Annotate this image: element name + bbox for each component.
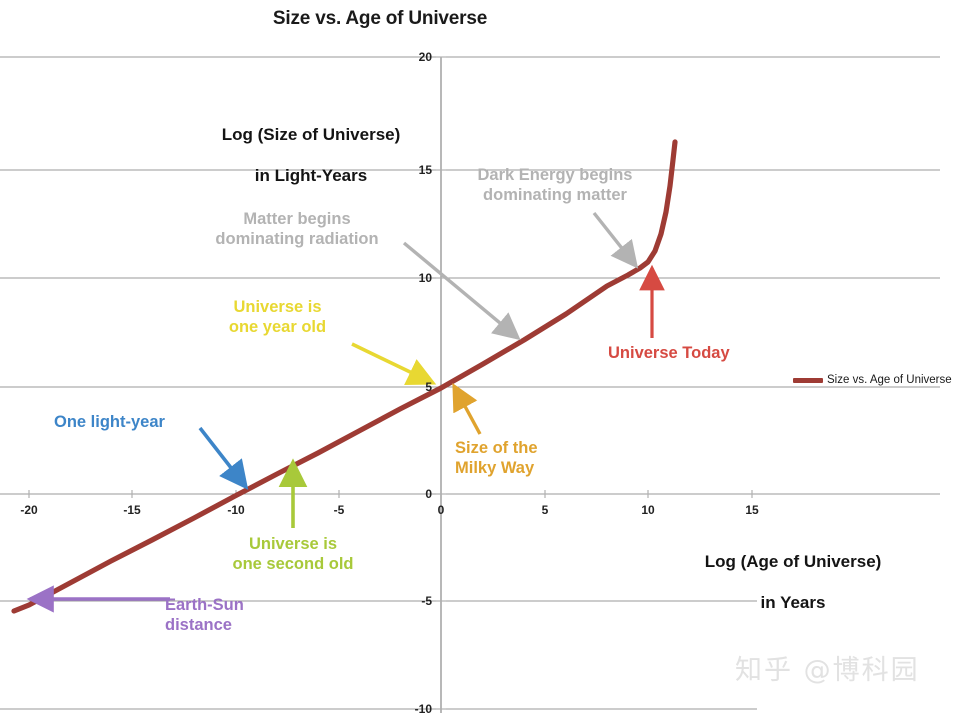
annotation-universe-one-year-old: Universe is one year old — [200, 297, 355, 337]
watermark: 知乎 @博科园 — [735, 648, 920, 687]
y-tick-neg5: -5 — [398, 594, 432, 608]
annotation-one-light-year: One light-year — [54, 412, 214, 432]
x-tick-0: 0 — [421, 503, 461, 517]
y-tick-20: 20 — [398, 50, 432, 64]
y-axis-title-line1: Log (Size of Universe) — [222, 125, 401, 144]
x-tick-15: 15 — [732, 503, 772, 517]
y-tick-5: 5 — [398, 380, 432, 394]
arrow-size-of-milky-way — [454, 386, 480, 434]
annotation-universe-today: Universe Today — [608, 343, 778, 363]
y-axis-title-line2: in Light-Years — [255, 166, 367, 185]
annotation-size-of-milky-way: Size of the Milky Way — [455, 438, 585, 478]
annotation-matter-dominating-radiation: Matter begins dominating radiation — [184, 209, 410, 249]
chart-container: Size vs. Age of Universe — [0, 0, 960, 717]
x-tick-neg15: -15 — [112, 503, 152, 517]
legend-color-swatch — [793, 378, 823, 383]
chart-legend[interactable]: Size vs. Age of Universe — [793, 374, 952, 386]
x-axis-title-line1: Log (Age of Universe) — [705, 552, 882, 571]
x-tick-neg20: -20 — [9, 503, 49, 517]
legend-label: Size vs. Age of Universe — [827, 374, 952, 386]
y-tick-neg10: -10 — [398, 702, 432, 716]
y-tick-10: 10 — [398, 271, 432, 285]
x-tick-neg10: -10 — [216, 503, 256, 517]
x-axis-title: Log (Age of Universe) in Years — [668, 531, 918, 614]
arrow-one-light-year — [200, 428, 246, 487]
arrow-dark-energy-dominating-matter — [594, 213, 636, 266]
x-tick-10: 10 — [628, 503, 668, 517]
annotation-universe-one-second-old: Universe is one second old — [207, 534, 379, 574]
x-tick-5: 5 — [525, 503, 565, 517]
x-axis-title-line2: in Years — [761, 593, 826, 612]
annotation-earth-sun-distance: Earth-Sun distance — [165, 595, 285, 635]
arrow-one-year-old — [352, 344, 433, 383]
y-axis-title: Log (Size of Universe) in Light-Years — [176, 104, 446, 187]
annotation-dark-energy-dominating-matter: Dark Energy begins dominating matter — [448, 165, 662, 205]
x-tick-neg5: -5 — [319, 503, 359, 517]
y-tick-0: 0 — [398, 487, 432, 501]
arrow-matter-dominating-radiation — [404, 243, 518, 338]
